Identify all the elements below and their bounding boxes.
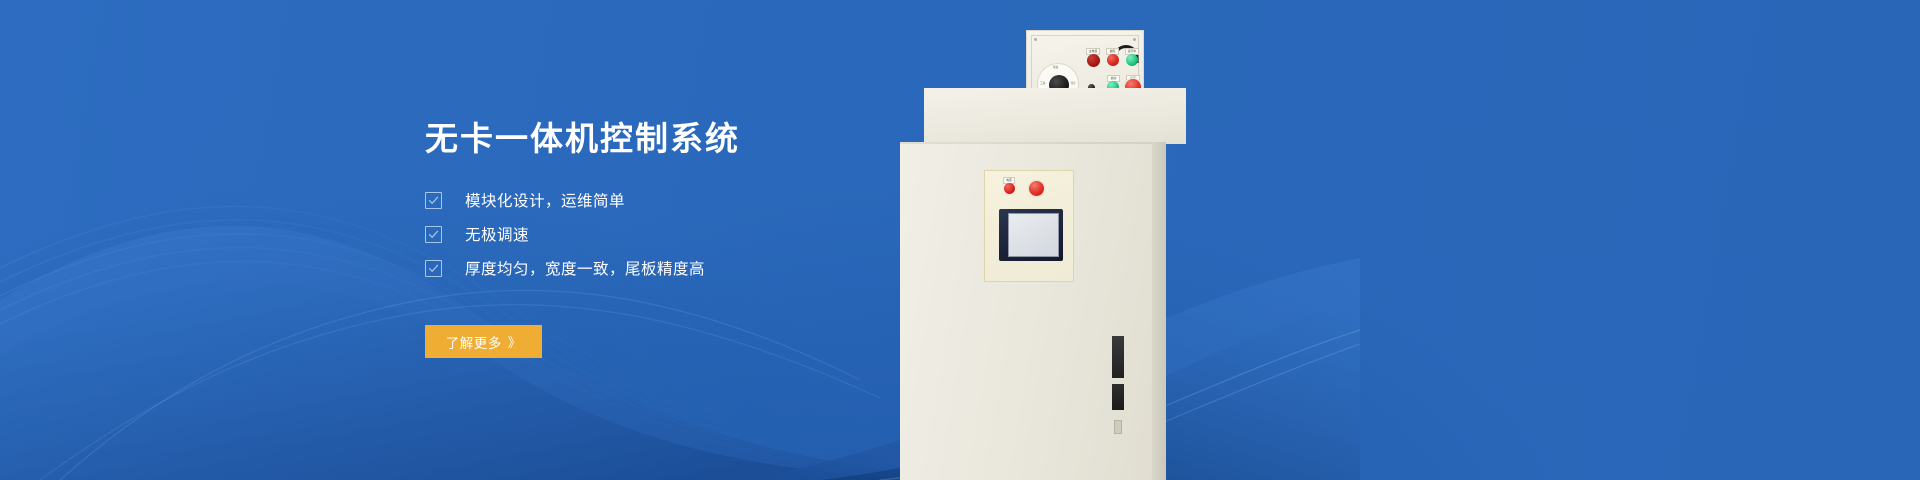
chevron-right-double-icon: 》 xyxy=(508,332,522,351)
cabinet-vent-upper xyxy=(1112,336,1124,378)
indicator-lamp-green-1[interactable] xyxy=(1126,54,1138,66)
feature-text: 厚度均匀，宽度一致，尾板精度高 xyxy=(465,257,705,279)
cabinet-seam-line xyxy=(900,142,1166,144)
cabinet-vent-lower xyxy=(1112,384,1124,410)
hmi-touch-screen[interactable] xyxy=(999,209,1063,261)
learn-more-label: 了解更多 xyxy=(446,332,502,352)
checkbox-checked-icon xyxy=(425,226,442,243)
indicator-lamp-red-2[interactable] xyxy=(1107,54,1119,66)
checkbox-checked-icon xyxy=(425,192,442,209)
hmi-function-keys[interactable] xyxy=(1002,218,1006,252)
screw-icon xyxy=(1034,38,1037,41)
cabinet-top-section xyxy=(924,88,1186,144)
feature-text: 无极调速 xyxy=(465,223,529,245)
cabinet-door-panel: 电源 xyxy=(984,170,1074,282)
door-lamp-red-small[interactable] xyxy=(1004,183,1015,194)
hmi-screen-display[interactable] xyxy=(1008,213,1059,257)
feature-text: 模块化设计，运维简单 xyxy=(465,189,625,211)
hmi-key[interactable] xyxy=(1002,239,1006,242)
indicator-lamp-red-1[interactable] xyxy=(1087,54,1100,67)
learn-more-button[interactable]: 了解更多 》 xyxy=(425,325,542,358)
knob-label-right: 停止 xyxy=(1071,83,1076,86)
door-stop-button-red[interactable] xyxy=(1029,181,1044,196)
screw-icon xyxy=(1133,38,1136,41)
machine-photo: 快进 停止 快退 工进 主电源 故障 运行中 启动 急停 电源 xyxy=(900,0,1920,480)
hmi-key[interactable] xyxy=(1002,249,1006,252)
checkbox-checked-icon xyxy=(425,260,442,277)
cabinet-door-handle[interactable] xyxy=(1114,420,1122,434)
hmi-key[interactable] xyxy=(1002,228,1006,231)
hmi-key[interactable] xyxy=(1002,218,1006,221)
cabinet-right-edge xyxy=(1152,142,1166,480)
knob-label-top: 快进 xyxy=(1053,67,1058,70)
hero-banner: 无卡一体机控制系统 模块化设计，运维简单 无极调速 xyxy=(0,0,1920,480)
knob-label-left: 工进 xyxy=(1040,83,1045,86)
